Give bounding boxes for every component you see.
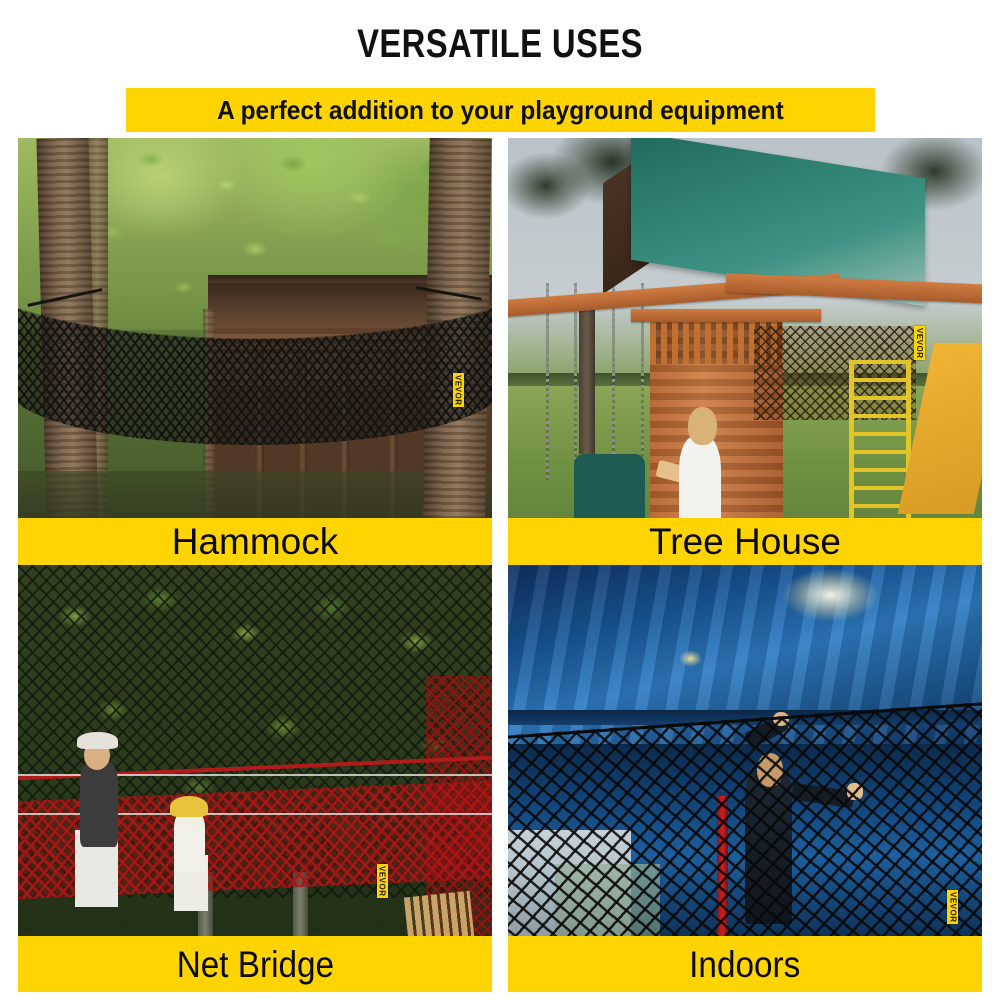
swing-chain-3: [612, 283, 615, 479]
card-label-net-bridge: Net Bridge: [176, 946, 333, 983]
page-title: VERSATILE USES: [90, 22, 910, 67]
vevor-brand-tag: VEVOR: [947, 890, 958, 925]
vevor-brand-tag: VEVOR: [453, 373, 464, 408]
use-case-card-indoors[interactable]: VEVOR Indoors: [508, 565, 982, 992]
net-hammock: [18, 283, 492, 445]
adult-torso: [80, 761, 118, 846]
card-label-band-net-bridge: Net Bridge: [18, 936, 492, 992]
child-yellow-hat: [170, 796, 208, 817]
vevor-brand-tag: VEVOR: [377, 864, 388, 899]
child-torso: [174, 813, 205, 873]
hammock-photo: VEVOR: [18, 138, 492, 565]
subtitle-banner: A perfect addition to your playground eq…: [126, 88, 875, 132]
playset-beam-front: [631, 309, 821, 322]
vevor-brand-tag: VEVOR: [914, 326, 925, 361]
tree-house-photo: VEVOR: [508, 138, 982, 565]
picnic-table: [574, 454, 645, 527]
hammock-mesh: [18, 283, 492, 445]
indoors-photo: VEVOR: [508, 565, 982, 992]
hanging-lamp: [679, 650, 703, 667]
use-case-card-tree-house[interactable]: VEVOR Tree House: [508, 138, 982, 565]
tree-trunk: [579, 309, 595, 454]
subtitle-text: A perfect addition to your playground eq…: [217, 95, 784, 126]
net-bridge-photo: VEVOR: [18, 565, 492, 992]
adult-white-hat: [77, 732, 117, 749]
use-case-grid: VEVOR Hammock: [18, 138, 982, 992]
card-label-hammock: Hammock: [172, 523, 339, 560]
card-label-indoors: Indoors: [689, 946, 800, 983]
ceiling-light-glow: [783, 569, 878, 620]
use-case-card-net-bridge[interactable]: VEVOR Net Bridge: [18, 565, 492, 992]
card-label-band-indoors: Indoors: [508, 936, 982, 992]
card-label-band-tree-house: Tree House: [508, 518, 982, 565]
infographic-page: VERSATILE USES A perfect addition to you…: [0, 0, 1000, 1000]
use-case-card-hammock[interactable]: VEVOR Hammock: [18, 138, 492, 565]
swing-chain-2: [574, 283, 577, 479]
card-label-band-hammock: Hammock: [18, 518, 492, 565]
boy-head: [688, 407, 716, 445]
card-label-tree-house: Tree House: [649, 523, 841, 560]
